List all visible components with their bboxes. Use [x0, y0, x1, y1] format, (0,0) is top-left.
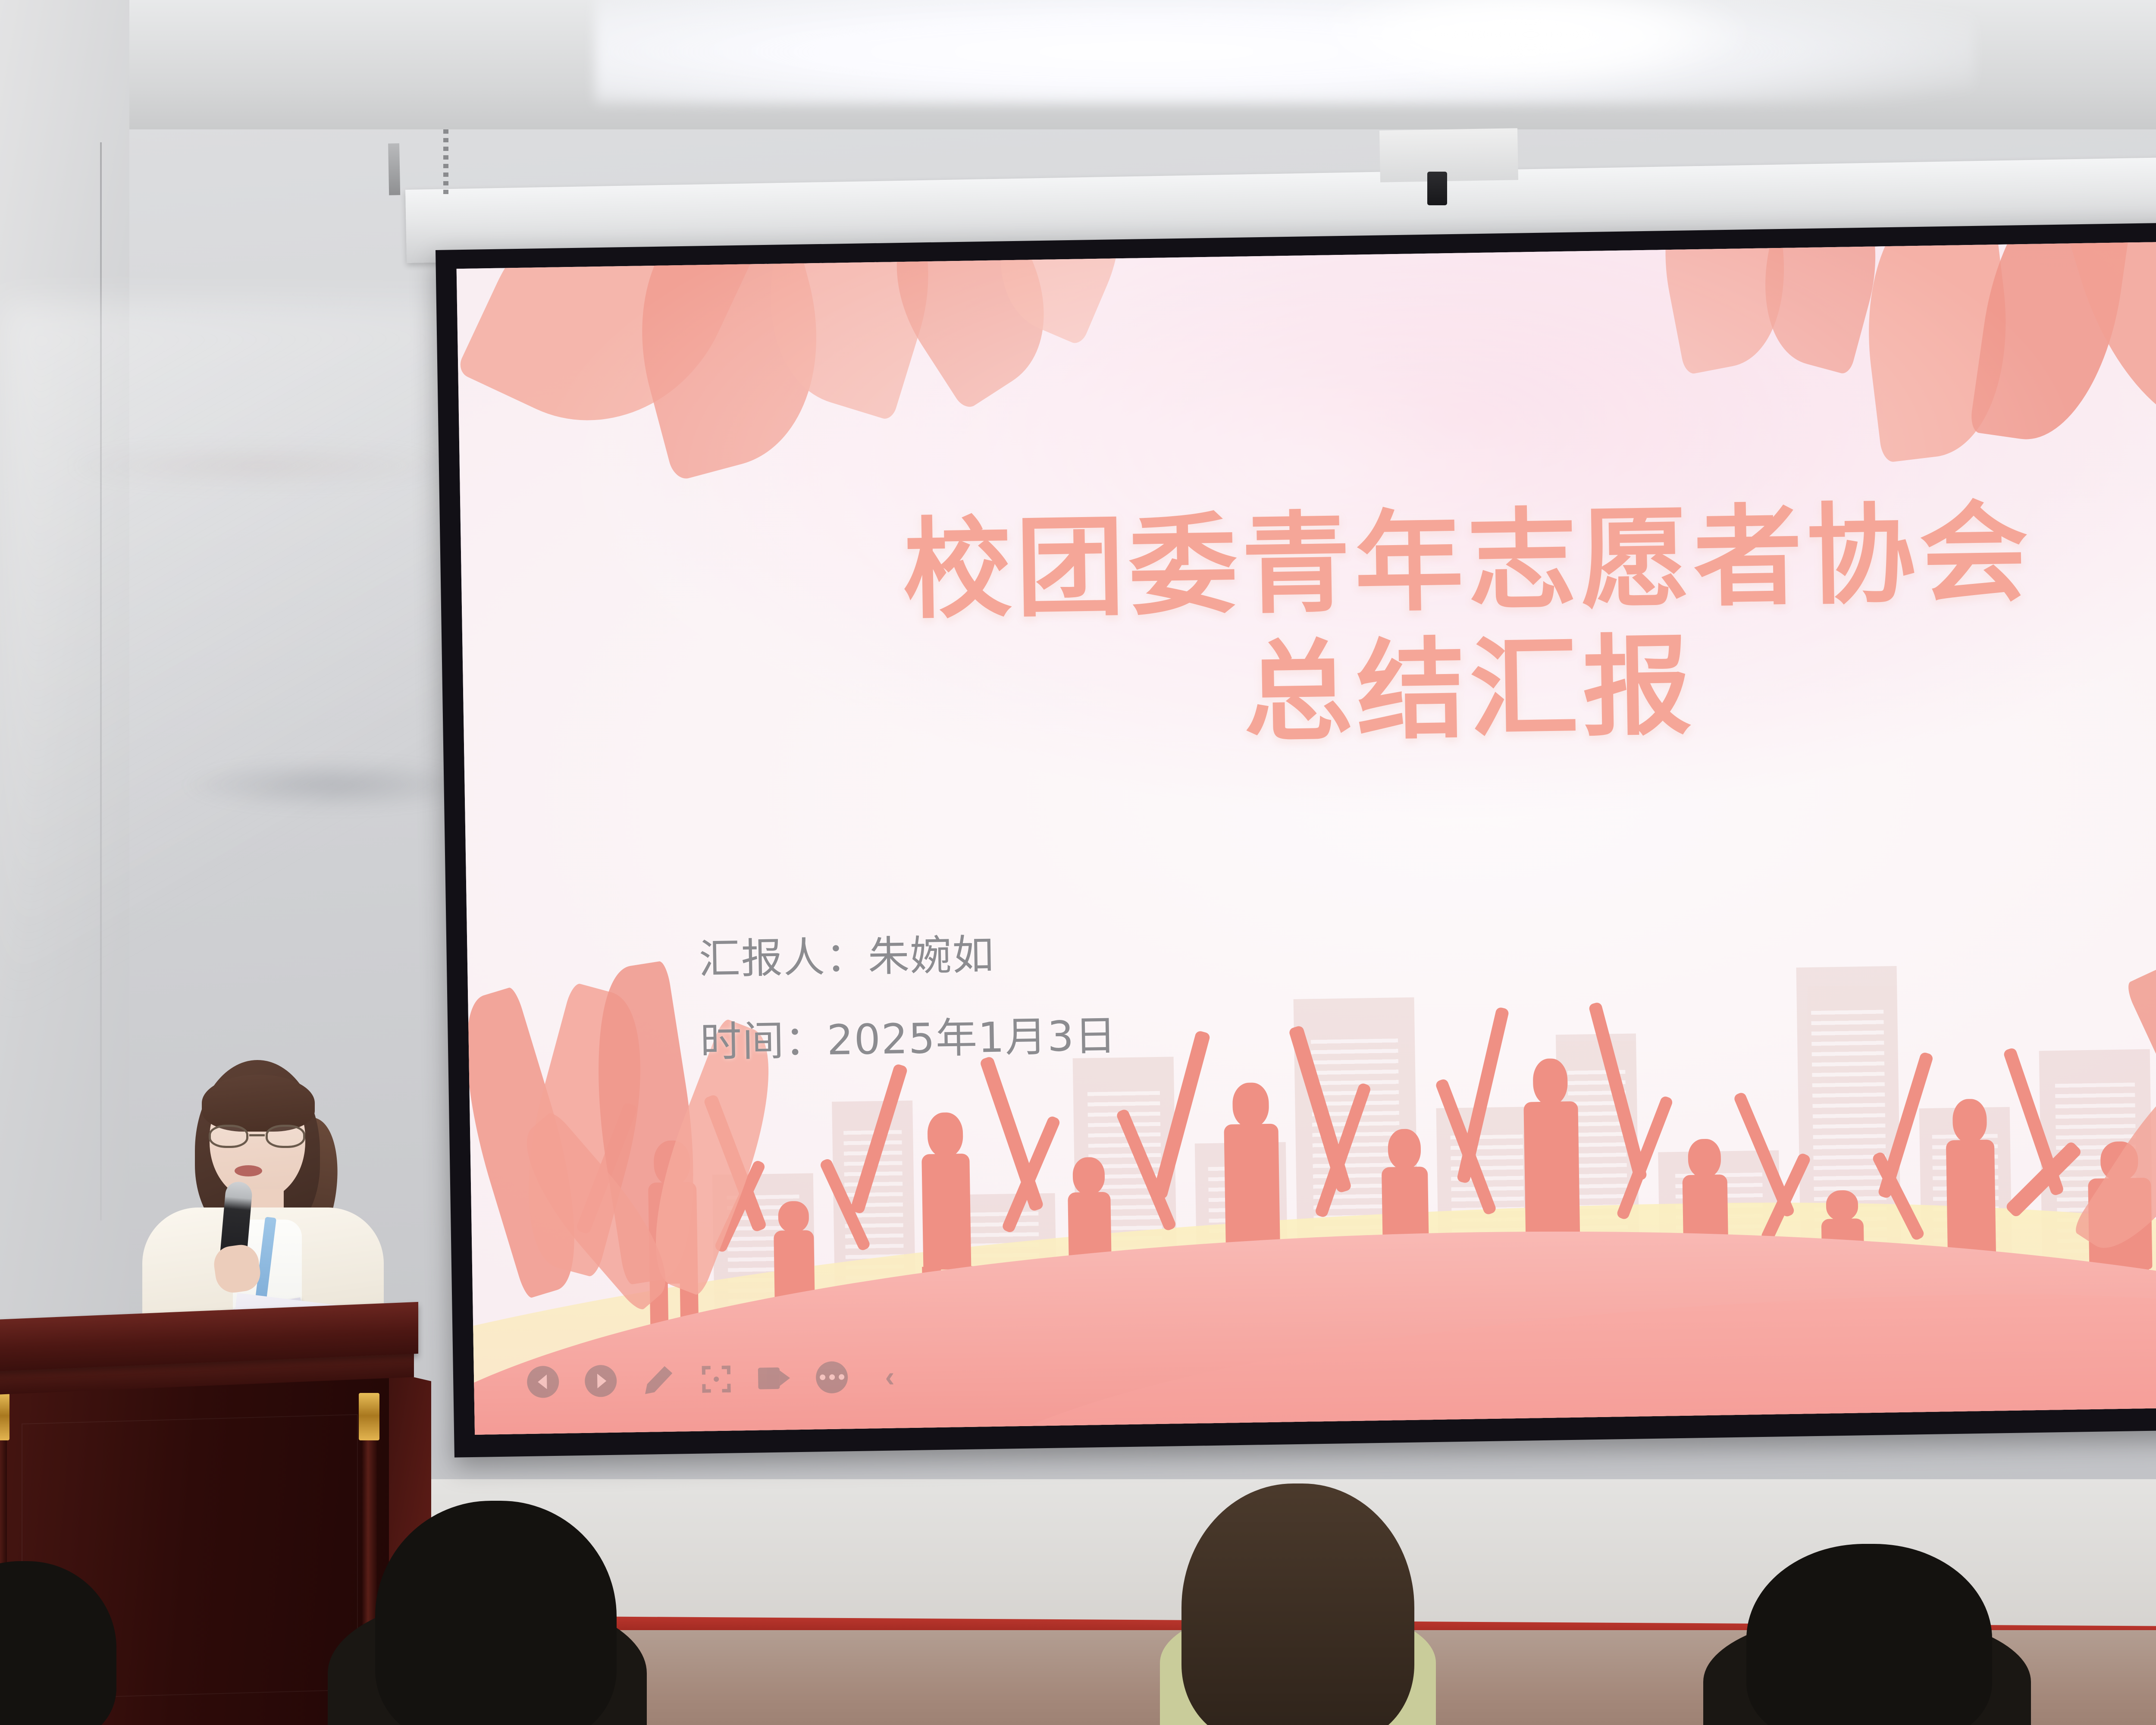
audience-head	[1181, 1483, 1414, 1725]
audience-head	[1746, 1544, 1992, 1725]
previous-slide-button[interactable]	[526, 1365, 560, 1399]
slide-title-block: 校团委青年志愿者协会 总结汇报	[461, 482, 2156, 770]
podium-gold-trim-left	[0, 1393, 9, 1440]
ceiling-mount-plate	[1379, 128, 1518, 182]
date-label: 时间：2025年1月3日	[699, 994, 1117, 1084]
previous-arrow-icon	[527, 1366, 559, 1398]
projected-slide[interactable]: 校团委青年志愿者协会 总结汇报 汇报人：朱婉如 时间：2025年1月3日	[457, 237, 2156, 1435]
presenter-label: 汇报人：朱婉如	[698, 912, 1116, 1001]
ceiling-light-glare	[1315, 0, 1746, 86]
chevron-left-icon: ‹	[885, 1362, 895, 1390]
collapse-toolbar-button[interactable]: ‹	[873, 1359, 907, 1393]
audience-head	[375, 1501, 617, 1725]
presenter-fringe	[202, 1075, 315, 1132]
projection-screen-frame: 校团委青年志愿者协会 总结汇报 汇报人：朱婉如 时间：2025年1月3日	[436, 218, 2156, 1457]
next-slide-button[interactable]	[584, 1364, 618, 1398]
more-dots-icon	[816, 1361, 848, 1393]
video-camera-icon	[758, 1367, 790, 1389]
housing-bracket-left	[388, 143, 400, 195]
next-arrow-icon	[585, 1365, 617, 1397]
slide-meta-block: 汇报人：朱婉如 时间：2025年1月3日	[698, 912, 1117, 1084]
wall-highlight-streak	[65, 444, 453, 487]
wall-shadow-streak	[181, 759, 483, 811]
glasses-icon	[208, 1125, 306, 1148]
slide-title-line-1: 校团委青年志愿者协会	[461, 482, 2156, 642]
spotlight-button[interactable]	[699, 1362, 733, 1396]
more-options-button[interactable]	[815, 1360, 849, 1394]
lecture-hall-scene: 校团委青年志愿者协会 总结汇报 汇报人：朱婉如 时间：2025年1月3日	[0, 0, 2156, 1725]
presenter-mouth	[235, 1165, 262, 1176]
podium-gold-trim-right	[359, 1393, 379, 1440]
pen-icon	[645, 1366, 673, 1394]
suspension-chain-left	[443, 129, 448, 198]
ceiling-light-fixture	[595, 0, 1975, 103]
presentation-toolbar[interactable]: ‹	[526, 1359, 907, 1399]
screen-motor-box	[1427, 172, 1447, 205]
spotlight-icon	[702, 1365, 731, 1393]
screen-record-button[interactable]	[757, 1361, 791, 1395]
annotation-pen-button[interactable]	[642, 1363, 676, 1397]
